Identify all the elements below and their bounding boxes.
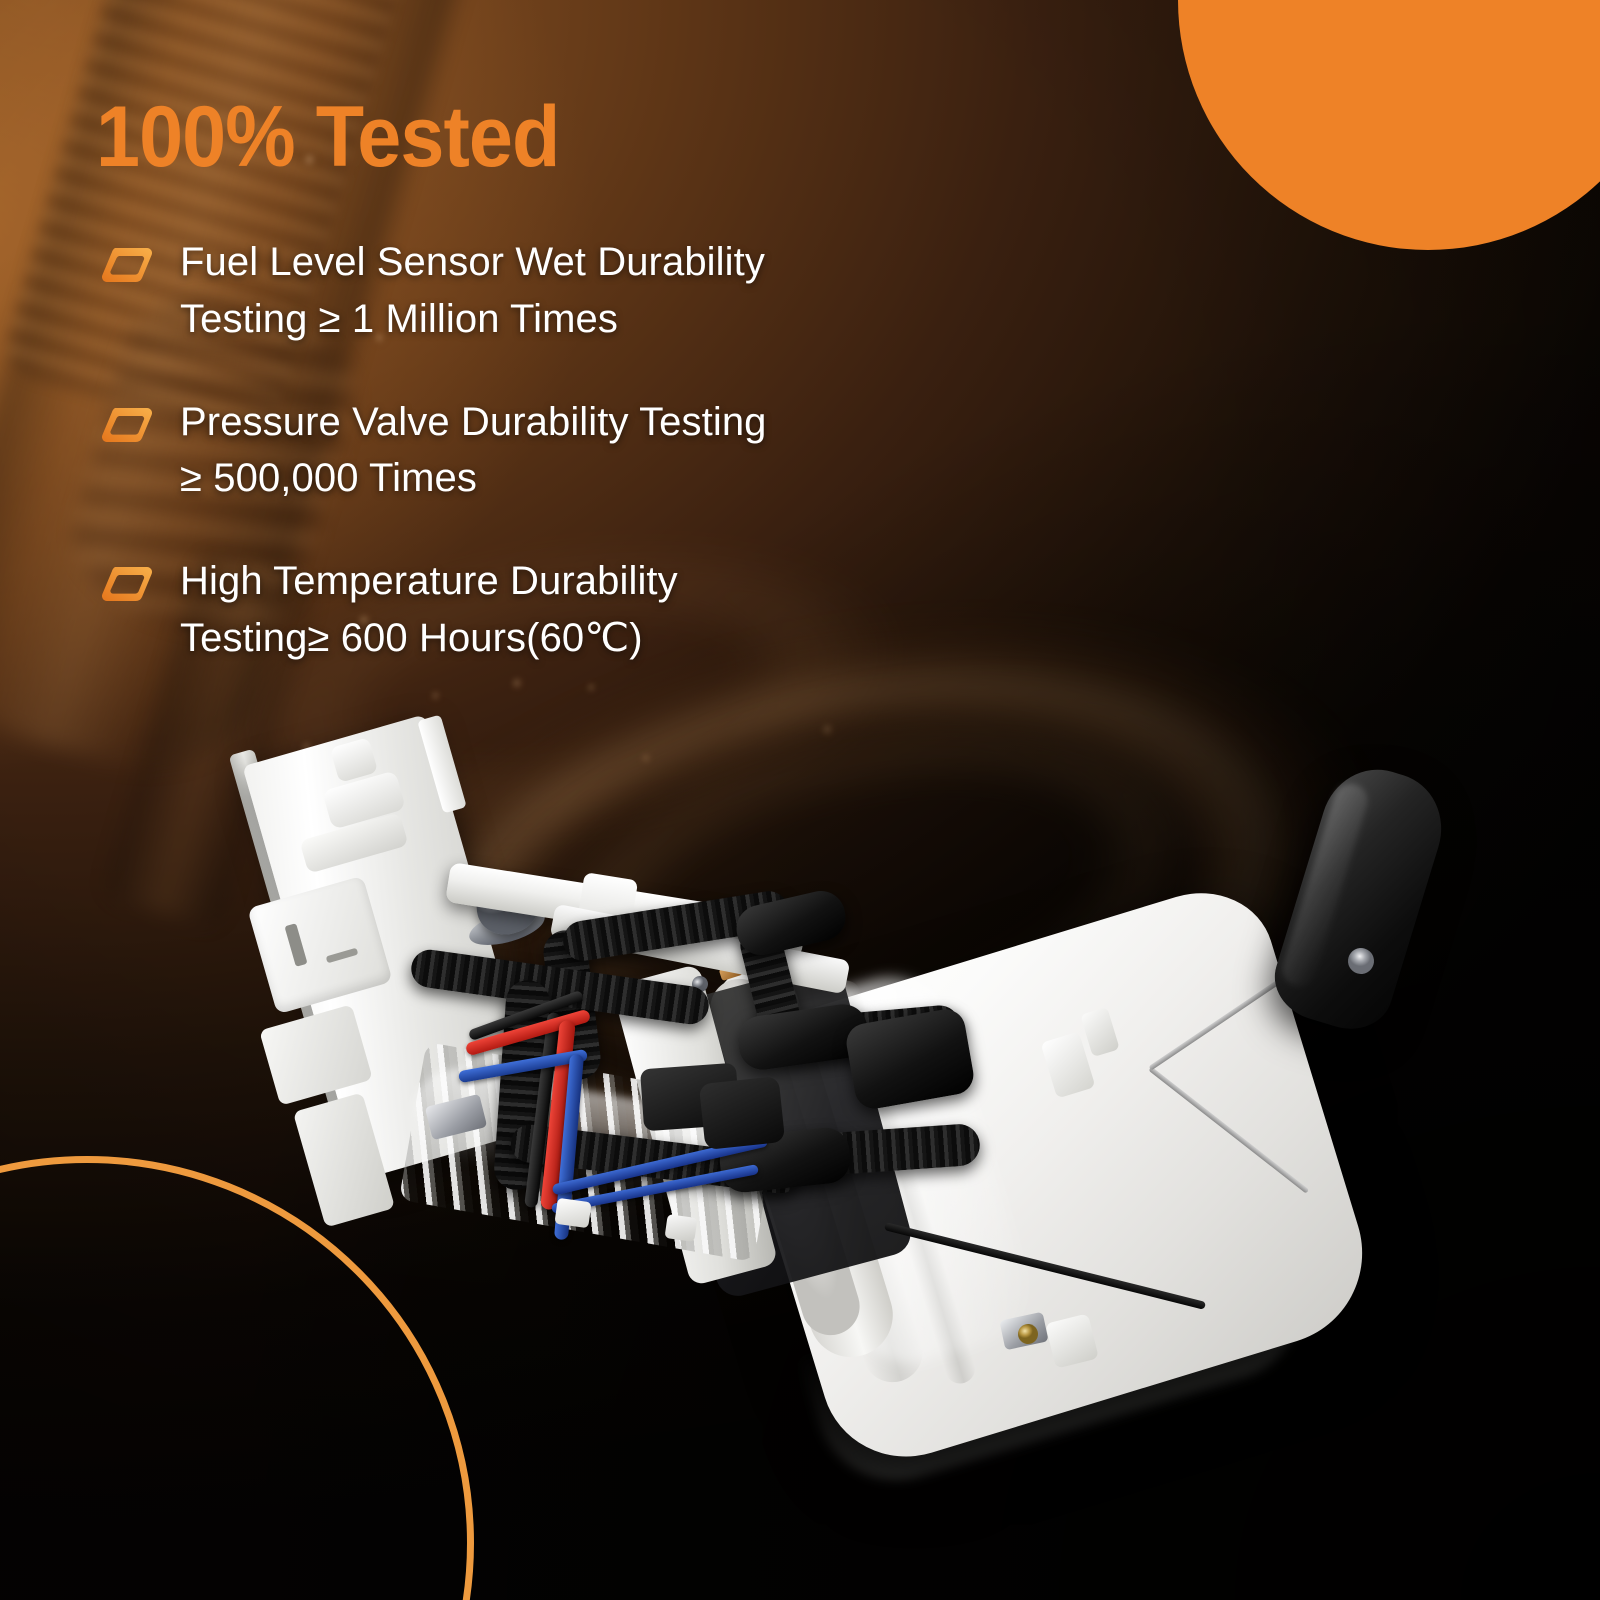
list-item: Pressure Valve Durability Testing ≥ 500,… <box>100 394 1060 508</box>
list-item-label: Pressure Valve Durability Testing ≥ 500,… <box>180 394 767 508</box>
list-item: High Temperature Durability Testing≥ 600… <box>100 553 1060 667</box>
product-banner: 100% Tested Fuel Level Sensor Wet Durabi… <box>0 0 1600 1600</box>
list-item-label: Fuel Level Sensor Wet Durability Testing… <box>180 234 765 348</box>
parallelogram-bullet-icon <box>100 404 154 444</box>
list-item-label: High Temperature Durability Testing≥ 600… <box>180 553 678 667</box>
parallelogram-bullet-icon <box>100 244 154 284</box>
product-image-fuel-pump-module <box>250 680 1400 1440</box>
list-item: Fuel Level Sensor Wet Durability Testing… <box>100 234 1060 348</box>
electrical-connector <box>699 1076 785 1150</box>
wire-clip <box>554 1198 591 1228</box>
parallelogram-bullet-icon <box>100 563 154 603</box>
page-title: 100% Tested <box>96 94 559 180</box>
wire-clip <box>664 1214 697 1242</box>
feature-list: Fuel Level Sensor Wet Durability Testing… <box>100 234 1060 713</box>
